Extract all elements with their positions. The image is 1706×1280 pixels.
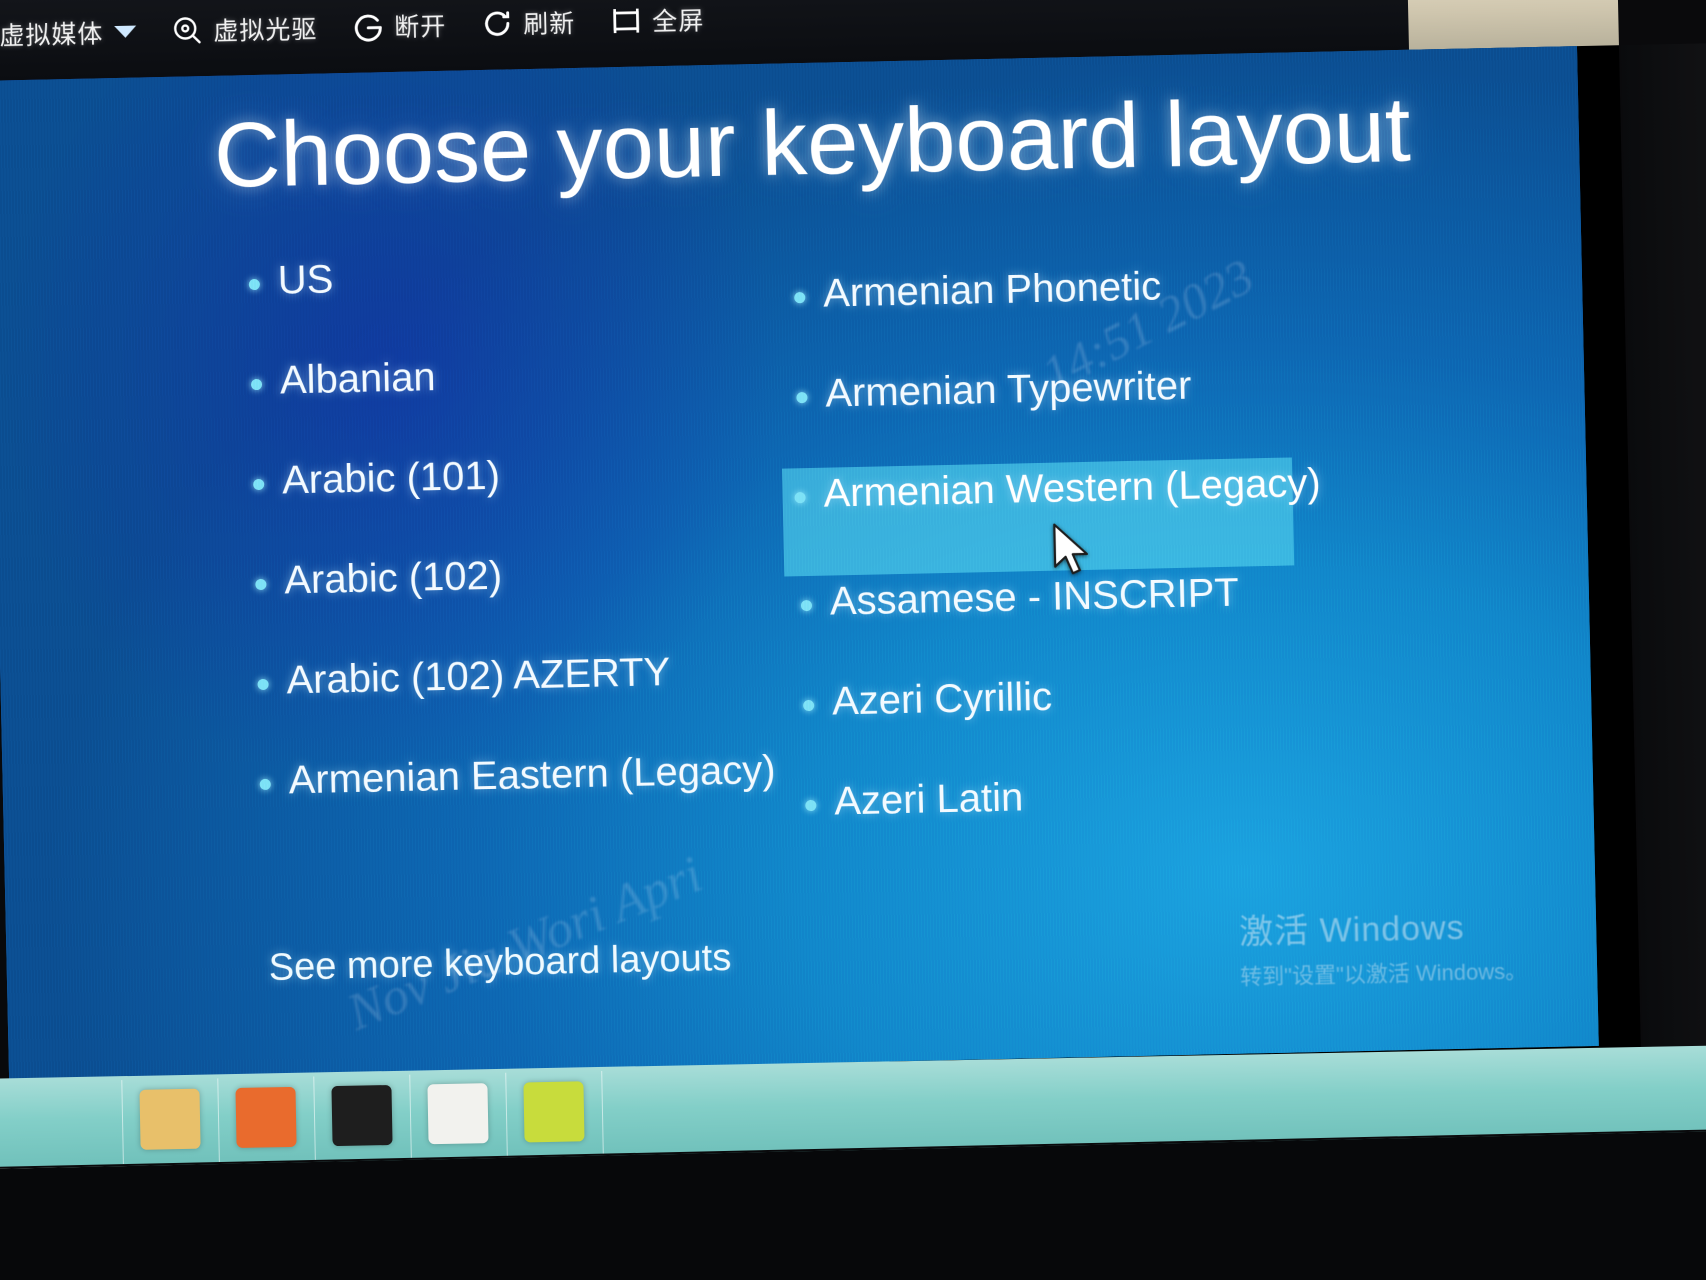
bullet-icon bbox=[801, 600, 812, 611]
keyboard-layout-option-label: Albanian bbox=[280, 357, 437, 400]
power-icon bbox=[351, 9, 386, 44]
keyboard-layout-option[interactable]: Armenian Typewriter bbox=[784, 355, 1406, 469]
bullet-icon bbox=[805, 800, 816, 811]
setup-content: Choose your keyboard layout USAlbanianAr… bbox=[0, 46, 1599, 1080]
bullet-icon bbox=[257, 679, 268, 690]
toolbar-disconnect[interactable]: 断开 bbox=[351, 7, 447, 45]
toolbar-fullscreen-label: 全屏 bbox=[652, 1, 705, 38]
taskbar-separator bbox=[121, 1080, 124, 1164]
bullet-icon bbox=[803, 700, 814, 711]
app-explorer[interactable] bbox=[139, 1089, 200, 1150]
keyboard-layout-option[interactable]: US bbox=[236, 242, 858, 356]
activate-windows-watermark: 激活 Windows 转到"设置"以激活 Windows。 bbox=[1239, 898, 1528, 991]
keyboard-layout-option[interactable]: Armenian Eastern (Legacy) bbox=[247, 742, 869, 856]
keyboard-layout-option[interactable]: Armenian Phonetic bbox=[782, 255, 1404, 369]
toolbar-virtual-cdrom-label: 虚拟光驱 bbox=[213, 10, 318, 48]
monitor-screen-area: 虚拟媒体 虚拟光驱 断开 bbox=[0, 0, 1706, 1169]
bullet-icon bbox=[260, 779, 271, 790]
toolbar-refresh-label: 刷新 bbox=[523, 4, 576, 41]
taskbar-separator bbox=[601, 1071, 604, 1155]
app-puzzle[interactable] bbox=[523, 1081, 584, 1142]
bullet-icon bbox=[251, 379, 262, 390]
windows-setup-screen: Choose your keyboard layout USAlbanianAr… bbox=[0, 46, 1599, 1080]
desktop-icon-label[interactable]: 九州云平台 - wsus_10.4... bbox=[1138, 1157, 1439, 1169]
taskbar-separator bbox=[409, 1075, 412, 1159]
disc-search-icon bbox=[170, 13, 205, 48]
toolbar-fullscreen[interactable]: 全屏 bbox=[609, 1, 705, 39]
photo-of-monitor: 虚拟媒体 虚拟光驱 断开 bbox=[0, 0, 1706, 1280]
keyboard-layout-option[interactable]: Arabic (102) AZERTY bbox=[245, 642, 867, 756]
keyboard-layout-option-label: Assamese - INSCRIPT bbox=[829, 573, 1239, 622]
keyboard-layout-option-label: Azeri Cyrillic bbox=[832, 677, 1053, 722]
toolbar-disconnect-label: 断开 bbox=[394, 7, 447, 44]
keyboard-layout-option-label: Arabic (101) bbox=[282, 456, 501, 501]
keyboard-layout-option[interactable]: Arabic (101) bbox=[241, 442, 863, 556]
caret-down-icon[interactable] bbox=[114, 26, 136, 38]
keyboard-layout-option[interactable]: Arabic (102) bbox=[243, 542, 865, 656]
keyboard-layout-option[interactable]: Assamese - INSCRIPT bbox=[788, 563, 1410, 677]
keyboard-layout-option-label: Azeri Latin bbox=[834, 777, 1024, 821]
toolbar-virtual-media[interactable]: 虚拟媒体 bbox=[0, 14, 137, 54]
desktop-icon-label[interactable]: test bbox=[1403, 1142, 1494, 1168]
refresh-icon bbox=[480, 6, 515, 41]
bullet-icon bbox=[253, 479, 264, 490]
page-title: Choose your keyboard layout bbox=[213, 78, 1412, 209]
keyboard-layout-option-label: Armenian Phonetic bbox=[823, 266, 1162, 313]
toolbar-refresh[interactable]: 刷新 bbox=[480, 4, 576, 42]
keyboard-layout-list-right[interactable]: Armenian PhoneticArmenian TypewriterArme… bbox=[782, 255, 1415, 876]
keyboard-layout-option[interactable]: Albanian bbox=[238, 342, 860, 456]
watermark-title: 激活 Windows bbox=[1239, 898, 1527, 953]
keyboard-layout-option[interactable]: Azeri Cyrillic bbox=[791, 663, 1413, 777]
keyboard-layout-option[interactable]: Azeri Latin bbox=[793, 763, 1415, 877]
toolbar-virtual-cdrom[interactable]: 虚拟光驱 bbox=[170, 10, 318, 49]
keyboard-layout-option-label: US bbox=[277, 259, 333, 300]
bullet-icon bbox=[795, 492, 806, 503]
see-more-keyboard-layouts-link[interactable]: See more keyboard layouts bbox=[268, 937, 731, 990]
bullet-icon bbox=[249, 279, 260, 290]
bullet-icon bbox=[255, 579, 266, 590]
app-terminal[interactable] bbox=[331, 1085, 392, 1146]
desktop-icon-label[interactable]: 新建文本文档 (2).txt bbox=[1483, 1149, 1664, 1170]
app-notepad[interactable] bbox=[427, 1083, 488, 1144]
app-firefox[interactable] bbox=[235, 1087, 296, 1148]
taskbar-separator bbox=[505, 1073, 508, 1157]
taskbar-separator bbox=[313, 1076, 316, 1160]
fullscreen-icon bbox=[609, 3, 644, 38]
toolbar-virtual-media-label: 虚拟媒体 bbox=[0, 14, 104, 52]
bullet-icon bbox=[796, 392, 807, 403]
keyboard-layout-option-selected[interactable]: Armenian Western (Legacy) bbox=[782, 457, 1294, 576]
desktop-icon-label[interactable]: 中文语言包 bbox=[1628, 1138, 1706, 1169]
keyboard-layout-option-label: Arabic (102) bbox=[284, 556, 503, 601]
keyboard-layout-option-label: Arabic (102) AZERTY bbox=[286, 652, 671, 700]
keyboard-layout-option-label: Armenian Typewriter bbox=[825, 366, 1192, 414]
bullet-icon bbox=[794, 292, 805, 303]
taskbar-separator bbox=[217, 1078, 220, 1162]
monitor-bezel-right bbox=[1621, 43, 1706, 1055]
mouse-cursor-icon bbox=[1052, 522, 1093, 581]
keyboard-layout-option-label: Armenian Eastern (Legacy) bbox=[288, 750, 776, 801]
keyboard-layout-list-left[interactable]: USAlbanianArabic (101)Arabic (102)Arabic… bbox=[236, 242, 869, 855]
keyboard-layout-option-label: Armenian Western (Legacy) bbox=[823, 463, 1321, 514]
watermark-subtitle: 转到"设置"以激活 Windows。 bbox=[1240, 953, 1528, 991]
